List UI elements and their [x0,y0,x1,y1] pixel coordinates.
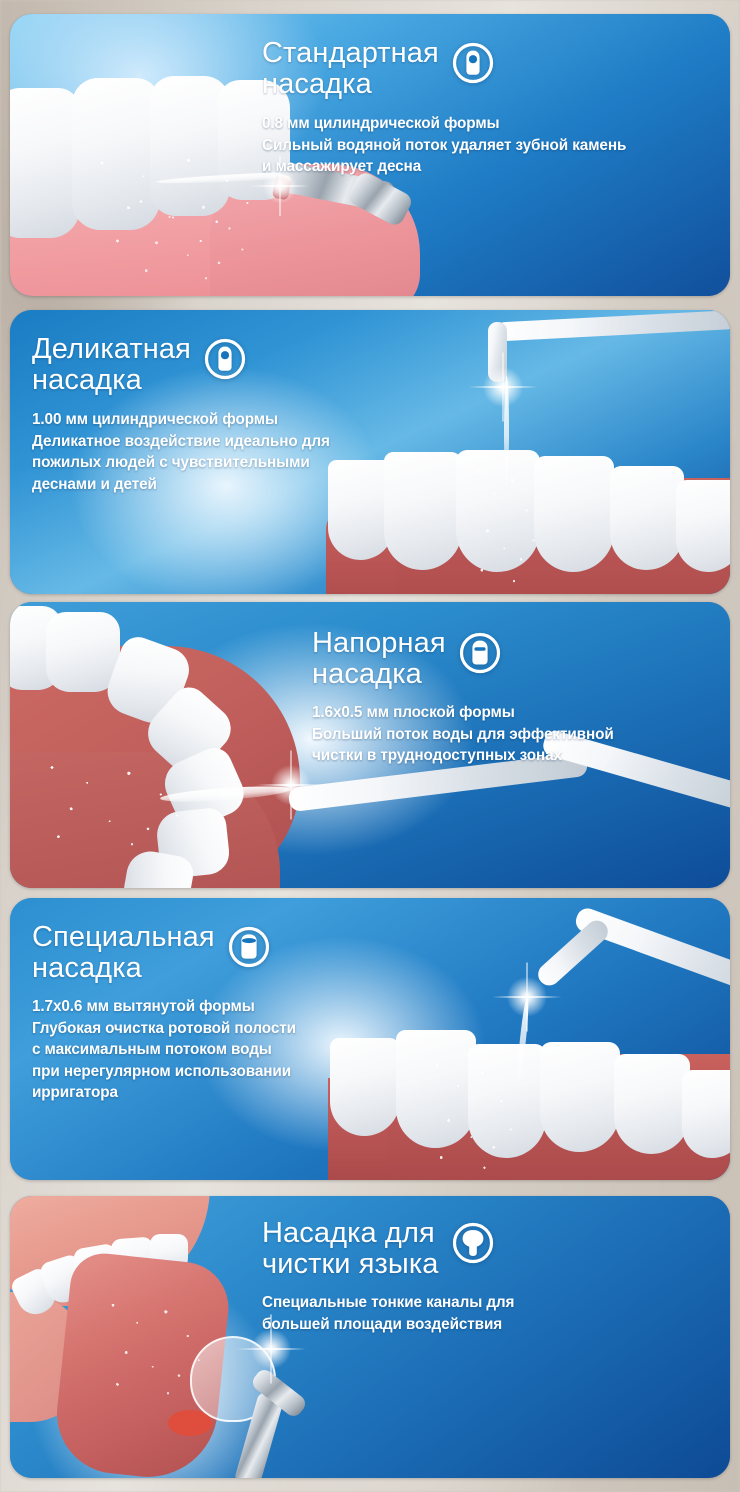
panel-description-standard: 0.8 мм цилиндрической формы Сильный водя… [262,113,710,178]
panel-description-special: 1.7x0.6 мм вытянутой формы Глубокая очис… [32,996,452,1104]
panel-title-delicate: Деликатная насадка [32,334,191,396]
nozzle-oval-icon [227,925,271,974]
panel-description-delicate: 1.00 мм цилиндрической формы Деликатное … [32,409,452,495]
panel-content-standard: Стандартная насадка 0.8 мм цилиндрическо… [262,38,710,178]
panel-description-pressure: 1.6x0.5 мм плоской формы Больший поток в… [312,702,712,767]
panel-description-tongue: Специальные тонкие каналы для большей пл… [262,1292,710,1335]
panel-tongue-cleaner-nozzle: Насадка для чистки языка Специальные тон… [10,1196,730,1478]
panel-content-pressure: Напорная насадка 1.6x0.5 мм плоской форм… [312,628,712,767]
panel-title-pressure: Напорная насадка [312,628,446,690]
panel-title-tongue: Насадка для чистки языка [262,1218,439,1280]
nozzle-round-icon [451,41,495,90]
panel-content-special: Специальная насадка 1.7x0.6 мм вытянутой… [32,922,452,1104]
panel-title-special: Специальная насадка [32,922,215,984]
panel-content-delicate: Деликатная насадка 1.00 мм цилиндрическо… [32,334,452,495]
panel-standard-nozzle: Стандартная насадка 0.8 мм цилиндрическо… [10,14,730,296]
nozzle-tongue-icon [451,1221,495,1270]
nozzle-flat-icon [458,631,502,680]
nozzle-round-icon [203,337,247,386]
nozzle-feature-sheet: Стандартная насадка 0.8 мм цилиндрическо… [0,0,740,1492]
panel-pressure-nozzle: Напорная насадка 1.6x0.5 мм плоской форм… [10,602,730,888]
panel-title-standard: Стандартная насадка [262,38,439,100]
panel-delicate-nozzle: Деликатная насадка 1.00 мм цилиндрическо… [10,310,730,594]
panel-special-nozzle: Специальная насадка 1.7x0.6 мм вытянутой… [10,898,730,1180]
panel-content-tongue: Насадка для чистки языка Специальные тон… [262,1218,710,1335]
